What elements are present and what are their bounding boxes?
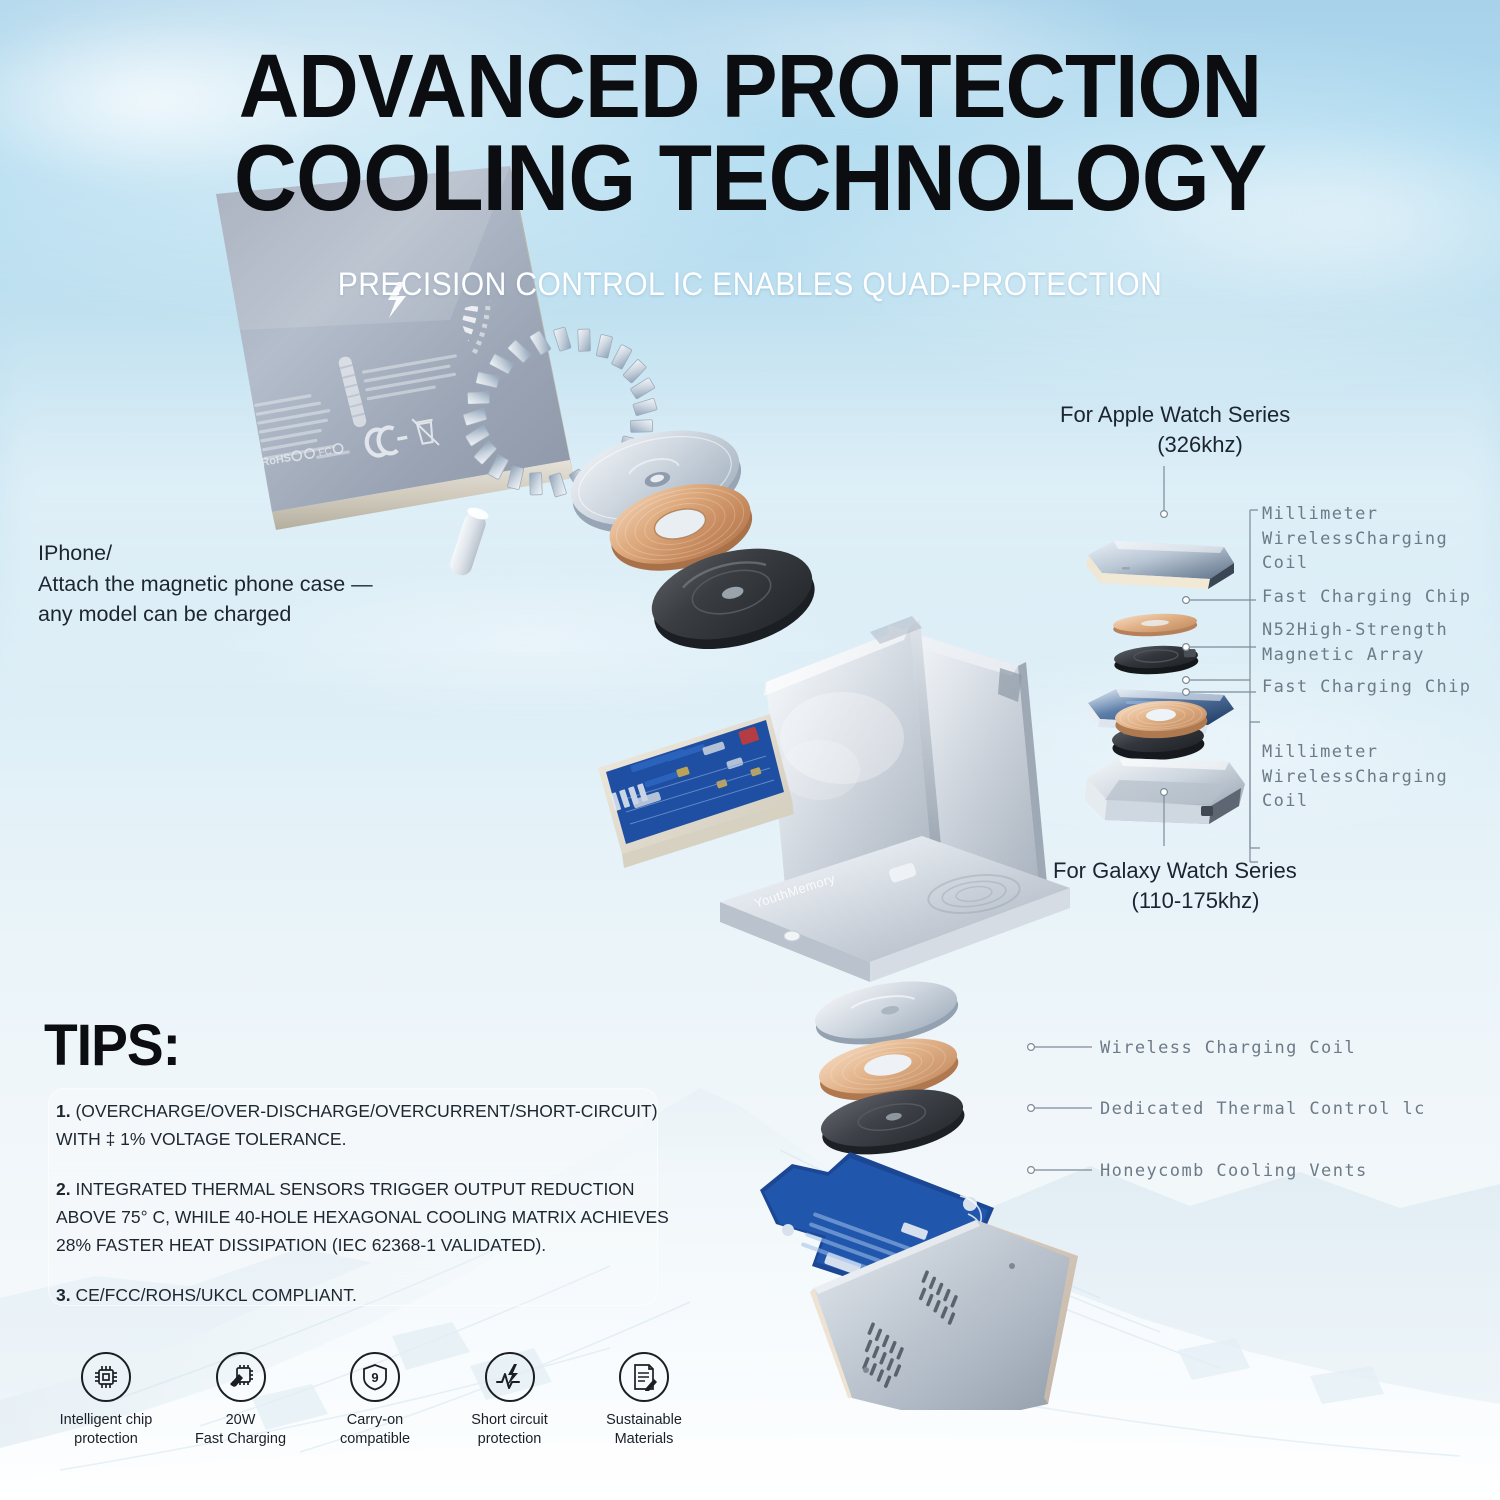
feature-intelligent-chip: Intelligent chip protection bbox=[50, 1352, 162, 1450]
galaxy-watch-line-1: For Galaxy Watch Series bbox=[1053, 858, 1297, 883]
feature-caption-line-2: protection bbox=[454, 1430, 566, 1449]
tips-item-2-number: 2. bbox=[56, 1179, 71, 1199]
tips-item-3-text: CE/FCC/ROHS/UKCL COMPLIANT. bbox=[71, 1285, 357, 1305]
pulse-bolt-icon bbox=[485, 1352, 535, 1402]
feature-fast-charging: 20W Fast Charging bbox=[185, 1352, 297, 1450]
tips-item-1-number: 1. bbox=[56, 1101, 71, 1121]
iphone-note: IPhone/ Attach the magnetic phone case —… bbox=[38, 538, 373, 630]
feature-caption-line-2: Materials bbox=[588, 1430, 700, 1449]
iphone-note-line-1: IPhone/ bbox=[38, 538, 373, 569]
page-title: ADVANCED PROTECTION COOLING TECHNOLOGY bbox=[0, 46, 1500, 221]
tips-heading: TIPS: bbox=[44, 1012, 180, 1079]
galaxy-watch-series-label: For Galaxy Watch Series (110-175khz) bbox=[1053, 856, 1338, 916]
apple-watch-line-1: For Apple Watch Series bbox=[1060, 402, 1290, 427]
infographic-canvas: RoHS FC bbox=[0, 0, 1500, 1500]
feature-caption: Sustainable Materials bbox=[588, 1411, 700, 1450]
feature-caption-line-1: Short circuit bbox=[454, 1411, 566, 1430]
feature-sustainable: Sustainable Materials bbox=[588, 1352, 700, 1450]
callout-fast-charging-chip-1: Fast Charging Chip bbox=[1262, 585, 1471, 610]
feature-caption-line-1: 20W bbox=[185, 1411, 297, 1430]
tips-item-3-number: 3. bbox=[56, 1285, 71, 1305]
svg-text:9: 9 bbox=[371, 1370, 378, 1385]
headline-line-2: COOLING TECHNOLOGY bbox=[53, 134, 1448, 221]
feature-caption-line-2: compatible bbox=[319, 1430, 431, 1449]
tips-list: 1. (OVERCHARGE/OVER-DISCHARGE/OVERCURREN… bbox=[56, 1098, 696, 1310]
callout-wireless-charging-coil: Wireless Charging Coil bbox=[1100, 1036, 1356, 1061]
tips-item-1-text: (OVERCHARGE/OVER-DISCHARGE/OVERCURRENT/S… bbox=[56, 1101, 658, 1149]
feature-caption-line-1: Carry-on bbox=[319, 1411, 431, 1430]
tips-item-2: 2. INTEGRATED THERMAL SENSORS TRIGGER OU… bbox=[56, 1176, 696, 1259]
feature-carry-on: 9 Carry-on compatible bbox=[319, 1352, 431, 1450]
galaxy-watch-line-2: (110-175khz) bbox=[1053, 886, 1338, 916]
callout-thermal-control-ic: Dedicated Thermal Control lc bbox=[1100, 1097, 1426, 1122]
feature-caption: Short circuit protection bbox=[454, 1411, 566, 1450]
callout-millimeter-coil-bottom: Millimeter WirelessCharging Coil bbox=[1262, 740, 1500, 814]
apple-watch-series-label: For Apple Watch Series (326khz) bbox=[1060, 400, 1340, 460]
callout-fast-charging-chip-2: Fast Charging Chip bbox=[1262, 675, 1471, 700]
shield-nine-icon: 9 bbox=[350, 1352, 400, 1402]
callout-n52-magnetic-array: N52High-Strength Magnetic Array bbox=[1262, 618, 1500, 667]
iphone-note-line-2: Attach the magnetic phone case — bbox=[38, 569, 373, 600]
feature-caption-line-2: Fast Charging bbox=[185, 1430, 297, 1449]
feature-caption: Intelligent chip protection bbox=[50, 1411, 162, 1450]
page-subtitle: PRECISION CONTROL IC ENABLES QUAD-PROTEC… bbox=[45, 266, 1455, 303]
chip-icon bbox=[81, 1352, 131, 1402]
iphone-note-line-3: any model can be charged bbox=[38, 599, 373, 630]
tips-item-3: 3. CE/FCC/ROHS/UKCL COMPLIANT. bbox=[56, 1282, 696, 1310]
chip-wrench-icon bbox=[216, 1352, 266, 1402]
feature-caption-line-1: Intelligent chip bbox=[50, 1411, 162, 1430]
feature-caption: 20W Fast Charging bbox=[185, 1411, 297, 1450]
feature-caption-line-2: protection bbox=[50, 1430, 162, 1449]
document-pencil-icon bbox=[619, 1352, 669, 1402]
feature-short-circuit: Short circuit protection bbox=[454, 1352, 566, 1450]
tips-item-1: 1. (OVERCHARGE/OVER-DISCHARGE/OVERCURREN… bbox=[56, 1098, 696, 1153]
callout-honeycomb-cooling-vents: Honeycomb Cooling Vents bbox=[1100, 1159, 1368, 1184]
headline-line-1: ADVANCED PROTECTION bbox=[53, 46, 1448, 130]
feature-caption: Carry-on compatible bbox=[319, 1411, 431, 1450]
callout-millimeter-coil-top: Millimeter WirelessCharging Coil bbox=[1262, 502, 1500, 576]
feature-caption-line-1: Sustainable bbox=[588, 1411, 700, 1430]
tips-item-2-text: INTEGRATED THERMAL SENSORS TRIGGER OUTPU… bbox=[56, 1179, 669, 1254]
feature-badges: Intelligent chip protection 20W bbox=[50, 1352, 700, 1450]
apple-watch-line-2: (326khz) bbox=[1060, 430, 1340, 460]
